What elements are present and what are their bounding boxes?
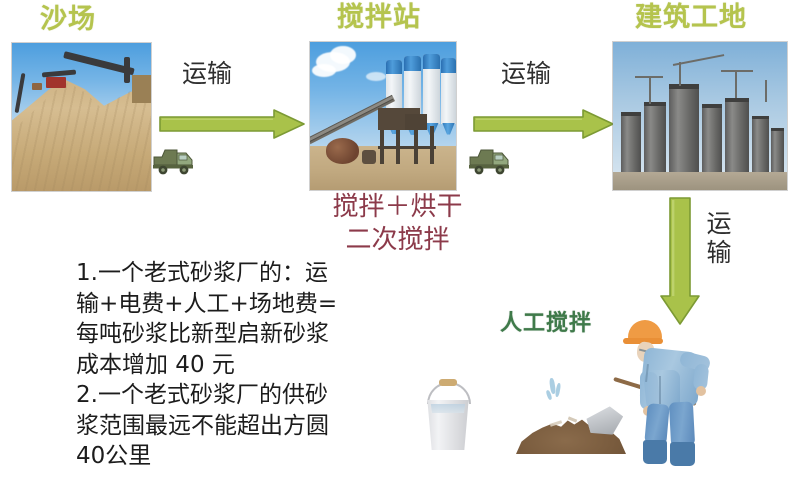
photo-mixing-station	[310, 42, 456, 190]
arrow-label-transport-3-line-1: 运	[706, 210, 732, 239]
arrow-down-1	[660, 196, 706, 326]
stage-title-mixing-station: 搅拌站	[337, 4, 421, 31]
photo-construction-site	[613, 42, 787, 190]
arrow-right-1	[158, 108, 306, 140]
process-note: 搅拌＋烘干 二次搅拌	[310, 191, 485, 256]
stage-title-sand-yard: 沙场	[40, 6, 96, 33]
arrow-label-transport-3-line-2: 输	[706, 239, 732, 268]
bucket-icon	[418, 376, 480, 452]
truck-icon-1	[150, 143, 196, 177]
stage-title-construction-site: 建筑工地	[635, 4, 747, 31]
process-note-line-1: 搅拌＋烘干	[310, 191, 485, 224]
photo-sand-yard	[12, 43, 151, 191]
process-note-line-2: 二次搅拌	[310, 224, 485, 257]
manual-mix-label: 人工搅拌	[500, 305, 592, 337]
arrow-label-transport-3: 运 输	[706, 210, 732, 268]
notes-block: 1.一个老式砂浆厂的：运 输+电费+人工+场地费= 每吨砂浆比新型启新砂浆 成本…	[76, 258, 337, 472]
note-line-5: 2.一个老式砂浆厂的供砂	[76, 380, 337, 411]
steam-icon	[543, 378, 569, 412]
arrow-label-transport-2: 运输	[501, 61, 551, 86]
note-line-2: 输+电费+人工+场地费=	[76, 289, 337, 320]
note-line-7: 40公里	[76, 441, 337, 472]
note-line-1: 1.一个老式砂浆厂的：运	[76, 258, 337, 289]
arrow-label-transport-1: 运输	[182, 61, 232, 86]
worker-shoveling-icon	[612, 318, 722, 470]
note-line-3: 每吨砂浆比新型启新砂浆	[76, 319, 337, 350]
note-line-6: 浆范围最远不能超出方圆	[76, 411, 337, 442]
diagram-canvas: 沙场 搅拌站 建筑工地 运输	[0, 0, 800, 480]
note-line-4: 成本增加 40 元	[76, 350, 337, 381]
arrow-right-2	[472, 108, 615, 140]
truck-icon-2	[466, 143, 512, 177]
